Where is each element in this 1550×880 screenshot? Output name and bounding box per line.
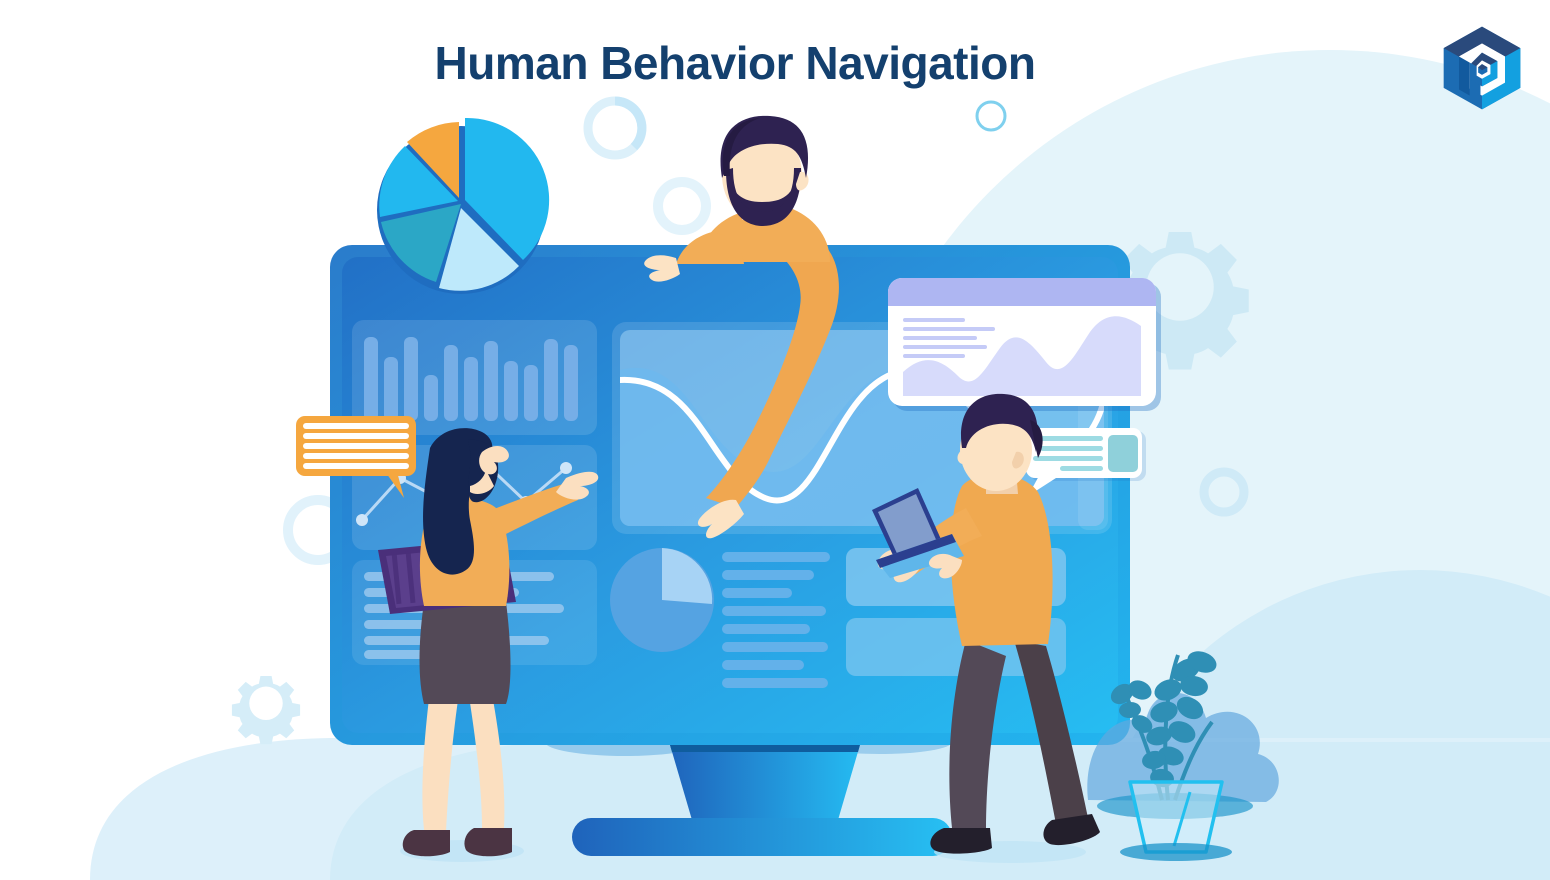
page-title: Human Behavior Navigation xyxy=(0,36,1470,90)
pie-summary-panel xyxy=(610,548,714,652)
monitor-stand xyxy=(668,738,862,820)
floating-dashboard-card xyxy=(888,278,1161,411)
illustration-layer xyxy=(0,0,1550,880)
monitor-base xyxy=(572,818,952,856)
illustration-canvas: Human Behavior Navigation xyxy=(0,0,1550,880)
hexagonal-p-logo[interactable] xyxy=(1436,22,1528,114)
